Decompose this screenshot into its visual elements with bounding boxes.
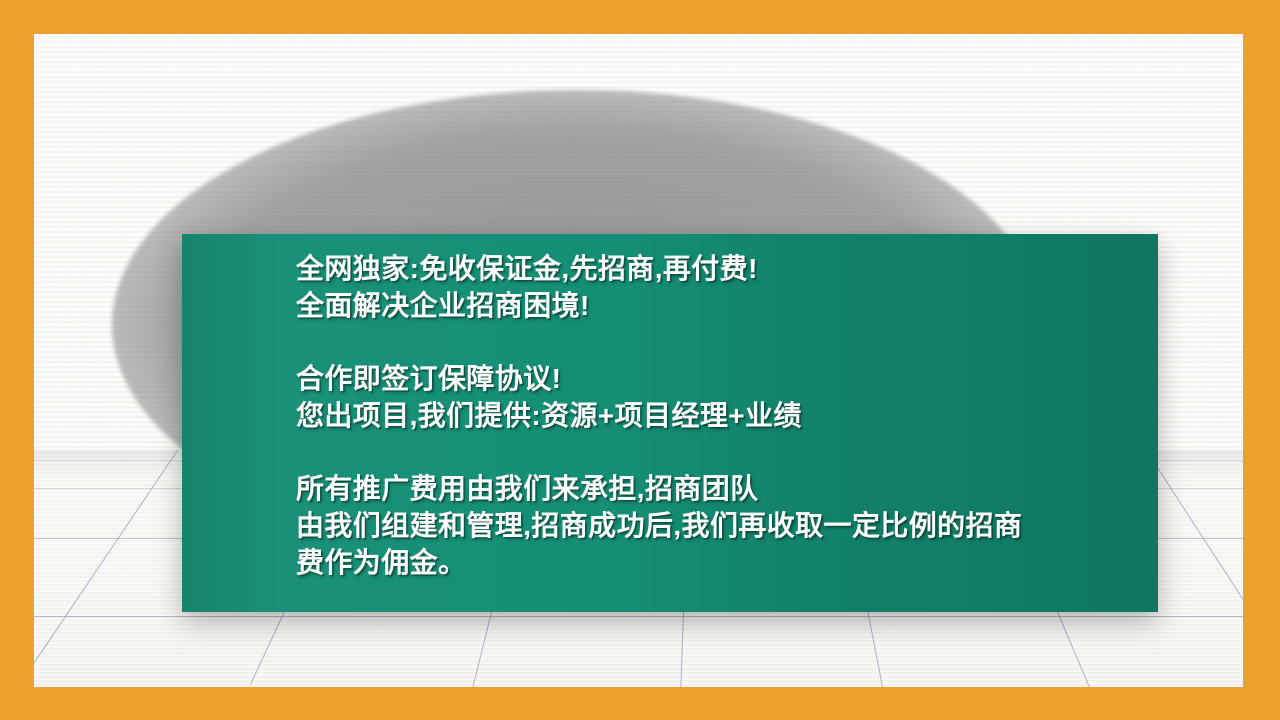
paragraph-block: 合作即签订保障协议! 您出项目,我们提供:资源+项目经理+业绩 [296,360,1158,434]
frame-border-right [1243,0,1280,720]
floor-horizontal-line [34,616,1243,617]
room-background: 全网独家:免收保证金,先招商,再付费! 全面解决企业招商困境! 合作即签订保障协… [34,34,1243,687]
slide-canvas: 全网独家:免收保证金,先招商,再付费! 全面解决企业招商困境! 合作即签订保障协… [0,0,1280,720]
panel-line: 费作为佣金。 [296,544,1158,581]
panel-line: 所有推广费用由我们来承担,招商团队 [296,470,1158,507]
content-panel: 全网独家:免收保证金,先招商,再付费! 全面解决企业招商困境! 合作即签订保障协… [182,234,1158,612]
paragraph-block: 所有推广费用由我们来承担,招商团队 由我们组建和管理,招商成功后,我们再收取一定… [296,470,1158,581]
frame-border-left [0,0,34,720]
panel-line: 全面解决企业招商困境! [296,287,1158,324]
paragraph-spacer [296,434,1158,470]
panel-line: 由我们组建和管理,招商成功后,我们再收取一定比例的招商 [296,507,1158,544]
panel-line: 您出项目,我们提供:资源+项目经理+业绩 [296,397,1158,434]
panel-line: 合作即签订保障协议! [296,360,1158,397]
content-panel-text: 全网独家:免收保证金,先招商,再付费! 全面解决企业招商困境! 合作即签订保障协… [182,234,1158,581]
paragraph-spacer [296,324,1158,360]
panel-line: 全网独家:免收保证金,先招商,再付费! [296,250,1158,287]
frame-border-top [0,0,1280,34]
floor-perspective-line [34,450,185,664]
frame-border-bottom [0,687,1280,720]
paragraph-block: 全网独家:免收保证金,先招商,再付费! 全面解决企业招商困境! [296,250,1158,324]
